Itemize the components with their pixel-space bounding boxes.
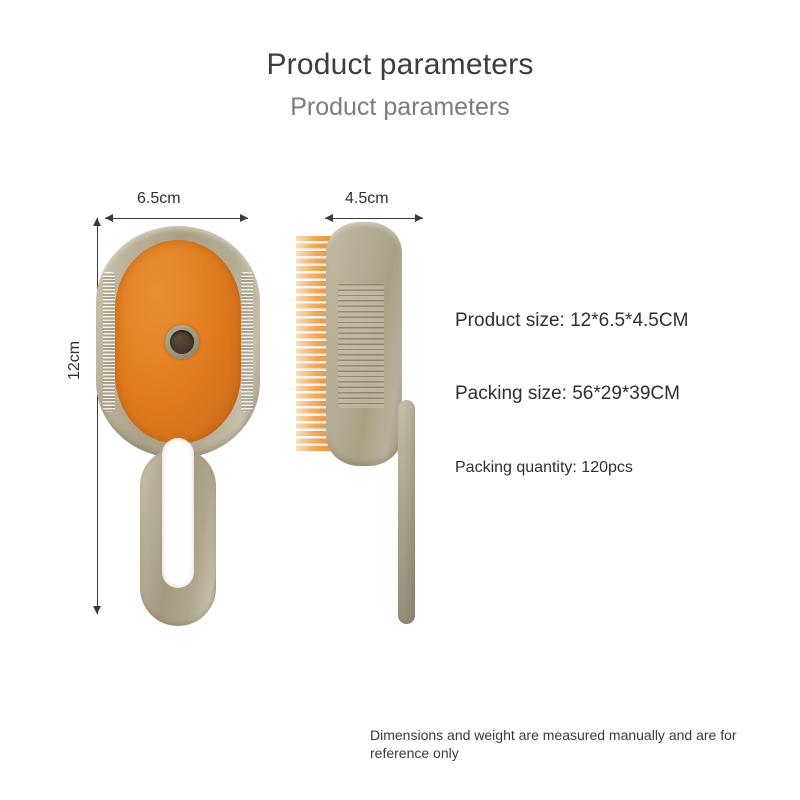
dimension-label-side-width: 4.5cm (345, 190, 389, 208)
arrow-head-top-icon (93, 218, 101, 226)
brush-head-frame (96, 226, 260, 458)
spec-packing-size: Packing size: 56*29*39CM (455, 383, 680, 405)
arrow-head-left-icon (325, 214, 333, 222)
center-hole (170, 330, 194, 354)
arrow-head-left-icon (105, 214, 113, 222)
page-subtitle: Product parameters (0, 93, 800, 122)
arrow-shaft (105, 218, 248, 219)
spec-product-size: Product size: 12*6.5*4.5CM (455, 310, 688, 332)
side-handle (398, 400, 415, 624)
side-body-ribs (338, 284, 384, 408)
center-button-ring (165, 325, 199, 359)
loop-handle (140, 448, 216, 626)
arrow-head-right-icon (240, 214, 248, 222)
comb-teeth-right (241, 272, 253, 412)
side-body (326, 222, 402, 466)
dimension-label-front-height: 12cm (66, 341, 84, 380)
footer-disclaimer: Dimensions and weight are measured manua… (370, 726, 774, 762)
spec-packing-quantity: Packing quantity: 120pcs (455, 459, 633, 477)
arrow-head-right-icon (415, 214, 423, 222)
product-side-view (296, 222, 436, 622)
arrow-shaft (325, 218, 423, 219)
product-front-view (96, 226, 260, 626)
dimension-label-front-width: 6.5cm (137, 190, 181, 208)
comb-teeth-left (103, 272, 115, 412)
dimension-arrow-front-width (105, 214, 248, 223)
page-title: Product parameters (0, 48, 800, 82)
loop-handle-opening (162, 438, 194, 588)
